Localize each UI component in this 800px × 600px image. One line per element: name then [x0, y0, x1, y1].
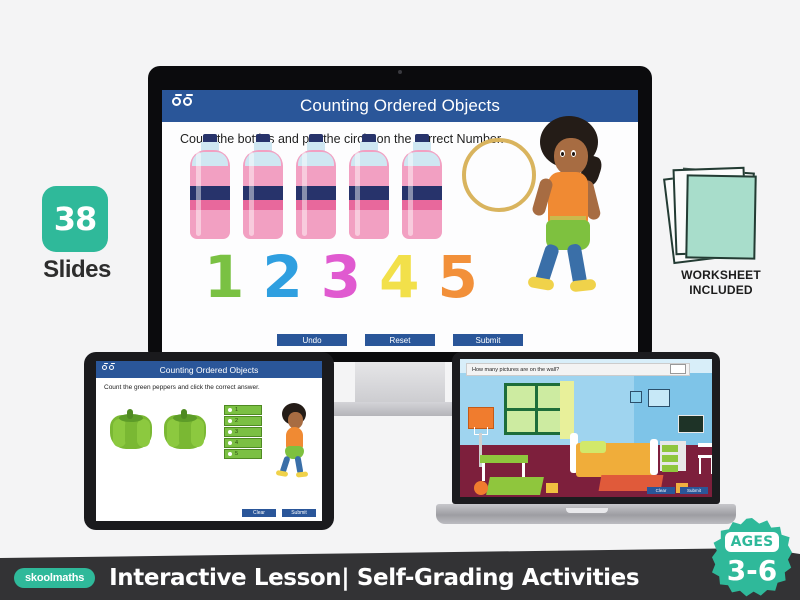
- radio-icon[interactable]: [228, 452, 232, 456]
- bottle-icon[interactable]: [400, 134, 444, 239]
- brand-name: skoolmaths: [25, 572, 84, 584]
- answer-input[interactable]: [670, 364, 686, 374]
- answer-option[interactable]: 2: [224, 416, 262, 426]
- bottle-icon[interactable]: [241, 134, 285, 239]
- green-pepper-icon[interactable]: [164, 409, 206, 449]
- ages-label: AGES: [731, 534, 774, 550]
- worksheet-line-2: INCLUDED: [648, 283, 794, 298]
- clear-button[interactable]: Clear: [242, 509, 276, 517]
- chair-icon: [698, 443, 712, 475]
- answer-option[interactable]: 1: [224, 405, 262, 415]
- ages-range: 3-6: [712, 554, 792, 587]
- skoolmaths-logo: skoolmaths: [14, 568, 95, 588]
- green-pepper-icon[interactable]: [110, 409, 152, 449]
- logo-eye-right: [109, 365, 114, 370]
- girl-character-illustration: [512, 116, 608, 291]
- wall-picture: [648, 389, 670, 407]
- slides-label: Slides: [38, 256, 116, 284]
- number-option-4[interactable]: 4: [379, 248, 419, 306]
- number-option-3[interactable]: 3: [321, 248, 361, 306]
- laptop-question-text: How many pictures are on the wall?: [472, 367, 559, 373]
- window-icon: [504, 383, 566, 435]
- tablet-screen: Counting Ordered Objects Count the green…: [96, 361, 322, 521]
- tablet-slide-question: Count the green peppers and click the co…: [96, 378, 322, 391]
- banner-title: Interactive Lesson| Self-Grading Activit…: [109, 565, 639, 591]
- promo-stage: 38 Slides WORKSHEET INCLUDED Counting Or…: [0, 0, 800, 600]
- bottle-group: [188, 134, 444, 239]
- rug: [486, 477, 544, 495]
- table-icon: [480, 455, 528, 463]
- answer-option[interactable]: 3: [224, 427, 262, 437]
- tablet-device: Counting Ordered Objects Count the green…: [84, 352, 334, 530]
- ages-badge: AGES 3-6: [712, 518, 792, 598]
- worksheet-included-label: WORKSHEET INCLUDED: [648, 268, 794, 298]
- slides-count-value: 38: [54, 200, 97, 238]
- reset-button[interactable]: Reset: [365, 334, 435, 346]
- radio-icon[interactable]: [228, 441, 232, 445]
- answer-option[interactable]: 4: [224, 438, 262, 448]
- chalkboard-icon: [678, 415, 704, 433]
- number-option-2[interactable]: 2: [262, 248, 302, 306]
- worksheet-line-1: WORKSHEET: [648, 268, 794, 283]
- radio-icon[interactable]: [228, 408, 232, 412]
- answer-option[interactable]: 5: [224, 449, 262, 459]
- tablet-slide-title: Counting Ordered Objects: [96, 365, 322, 375]
- laptop-base: [436, 504, 736, 524]
- logo-eye-right: [183, 97, 192, 106]
- answer-options-list: 1 2 3 4 5: [224, 405, 262, 460]
- slides-count-badge: 38: [42, 186, 108, 252]
- slide-title: Counting Ordered Objects: [162, 96, 638, 116]
- laptop-question-bar: How many pictures are on the wall?: [466, 363, 690, 376]
- laptop-screen: How many pictures are on the wall? Clear…: [460, 359, 712, 497]
- curtain: [560, 381, 574, 439]
- bottle-icon[interactable]: [294, 134, 338, 239]
- worksheet-sheet-front: [685, 174, 756, 259]
- submit-button[interactable]: Submit: [453, 334, 523, 346]
- basketball-icon: [474, 481, 488, 495]
- undo-button[interactable]: Undo: [277, 334, 347, 346]
- slide-action-bar: Undo Reset Submit: [162, 334, 638, 346]
- wall-picture: [630, 391, 642, 403]
- number-option-1[interactable]: 1: [204, 248, 244, 306]
- cabinet-icon: [660, 441, 686, 471]
- webcam-icon: [398, 70, 402, 74]
- number-option-5[interactable]: 5: [437, 248, 477, 306]
- laptop-action-bar: Clear Submit: [647, 487, 708, 494]
- bottom-banner-content: skoolmaths Interactive Lesson| Self-Grad…: [0, 556, 800, 600]
- submit-button[interactable]: Submit: [282, 509, 316, 517]
- ages-label-tag: AGES: [725, 532, 779, 552]
- radio-icon[interactable]: [228, 430, 232, 434]
- laptop-device: How many pictures are on the wall? Clear…: [452, 352, 720, 504]
- bottle-icon[interactable]: [188, 134, 232, 239]
- tablet-action-bar: Clear Submit: [242, 509, 316, 517]
- girl-character-illustration: [272, 403, 312, 475]
- bedroom-scene-illustration: [460, 359, 712, 497]
- monitor-screen: Counting Ordered Objects Count the bottl…: [162, 90, 638, 352]
- submit-button[interactable]: Submit: [680, 487, 708, 494]
- desktop-monitor: Counting Ordered Objects Count the bottl…: [148, 66, 652, 362]
- skoolmaths-eyes-logo: [172, 97, 192, 106]
- skoolmaths-eyes-logo: [102, 365, 114, 370]
- laptop-trackpad-notch: [566, 508, 608, 513]
- basketball-hoop-icon: [468, 407, 494, 429]
- logo-eye-left: [102, 365, 107, 370]
- logo-eye-left: [172, 97, 181, 106]
- worksheet-stack-icon: [666, 166, 772, 262]
- tablet-slide-header: Counting Ordered Objects: [96, 361, 322, 378]
- bottle-icon[interactable]: [347, 134, 391, 239]
- number-choice-row: 1 2 3 4 5: [204, 248, 478, 306]
- radio-icon[interactable]: [228, 419, 232, 423]
- clear-button[interactable]: Clear: [647, 487, 675, 494]
